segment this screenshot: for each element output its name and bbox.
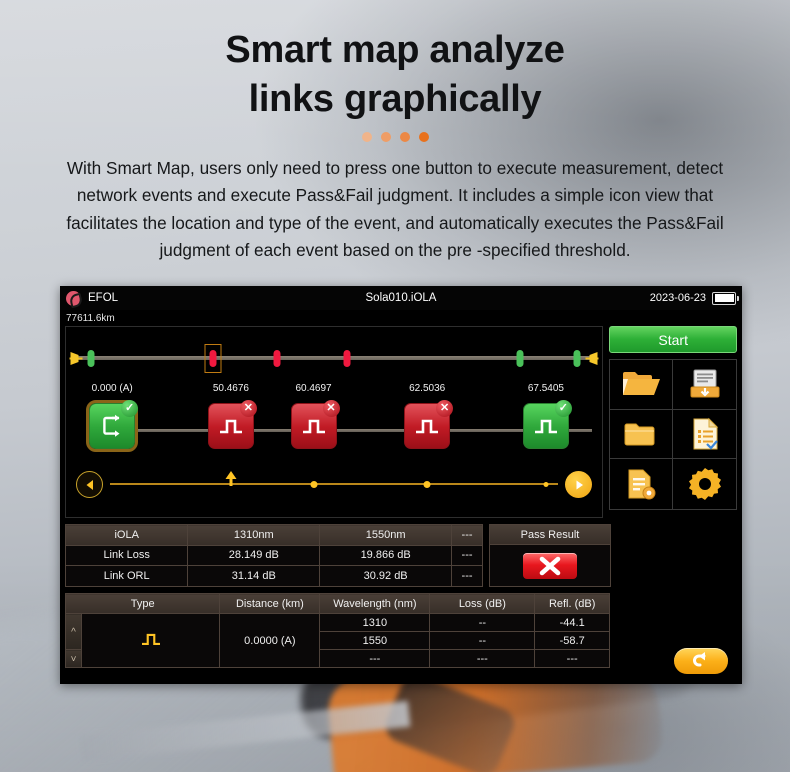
column-distance: Distance (km) [220,594,320,614]
carousel-dots[interactable] [0,132,790,142]
reflective-event-icon[interactable]: ✕ [291,403,337,449]
date-label: 2023-06-23 [650,292,706,304]
event-distance-label: 62.5036 [409,383,445,394]
report-document-icon[interactable] [673,410,736,460]
file-settings-icon[interactable] [610,459,673,509]
nav-event-dot[interactable] [543,482,548,487]
table-row: iOLA 1310nm 1550nm --- [66,525,483,546]
fiber-launch-icon [69,349,84,368]
event-icon-row[interactable]: ✓ ✕ ✕ ✕ ✓ [76,403,592,455]
loss-cell: --- [430,650,535,668]
summary-cell: 28.149 dB [188,545,320,566]
trace-marker[interactable] [209,350,216,367]
events-table-wrap: Type Distance (km) Wavelength (nm) Loss … [60,587,742,668]
prev-arrow-icon[interactable] [76,471,103,498]
event-type-cell [82,614,220,668]
fail-badge-icon: ✕ [436,400,453,417]
event-distance-cell: 0.0000 (A) [220,614,320,668]
loss-cell: -- [430,614,535,632]
event-connector-line [102,429,592,432]
summary-cell: iOLA [66,525,188,546]
pass-result-title: Pass Result [490,525,610,545]
summary-cell: 30.92 dB [320,566,452,587]
pass-result-body [490,545,610,586]
nav-track-line [110,483,558,485]
device-header: EFOL Sola010.iOLA 2023-06-23 [60,286,742,310]
fiber-trace-bar[interactable] [76,343,592,373]
cursor-marker-icon[interactable] [224,471,237,487]
event-distance-label: 50.4676 [213,383,249,394]
total-distance-bar: 77611.6km [60,310,742,326]
page-title: Smart map analyze links graphically [0,0,790,123]
summary-cell: --- [452,545,483,566]
summary-cell: Link ORL [66,566,188,587]
gear-icon[interactable] [673,459,736,509]
summary-cell: --- [452,566,483,587]
page-title-line1: Smart map analyze [225,29,564,71]
column-refl: Refl. (dB) [535,594,610,614]
back-arrow-icon[interactable] [674,648,728,674]
fiber-line [76,356,592,360]
fail-cross-icon [523,553,577,579]
start-button[interactable]: Start [609,326,737,353]
reflective-event-icon[interactable]: ✓ [523,403,569,449]
trace-marker[interactable] [274,350,281,367]
fail-badge-icon: ✕ [240,400,257,417]
device-screen: EFOL Sola010.iOLA 2023-06-23 77611.6km [60,286,742,684]
scroll-up-button[interactable]: ^ [66,614,82,650]
nav-event-dot[interactable] [424,481,431,488]
table-row: Link Loss 28.149 dB 19.866 dB --- [66,545,483,566]
pass-result-panel: Pass Result [489,524,611,587]
refl-cell: -44.1 [535,614,610,632]
fail-badge-icon: ✕ [323,400,340,417]
loopback-event-icon[interactable]: ✓ [89,403,135,449]
summary-cell: 31.14 dB [188,566,320,587]
open-folder-icon[interactable] [610,360,673,410]
reflective-event-icon [140,639,162,651]
carousel-dot-4[interactable] [419,132,429,142]
table-header-row: Type Distance (km) Wavelength (nm) Loss … [66,594,610,614]
brand-label: EFOL [88,292,118,304]
chevron-up-icon: ^ [71,627,76,638]
table-row[interactable]: ^ 0.0000 (A) 1310 -- -44.1 [66,614,610,632]
carousel-dot-1[interactable] [362,132,372,142]
trace-marker[interactable] [573,350,580,367]
refl-cell: -58.7 [535,632,610,650]
hero-section: Smart map analyze links graphically With… [0,0,790,264]
chevron-down-icon: ˅ [71,654,77,665]
tool-icon-grid [609,359,737,510]
event-distance-label: 0.000 (A) [92,383,133,394]
column-wavelength: Wavelength (nm) [320,594,430,614]
control-side-panel: Start [609,326,737,518]
total-distance-value: 77611.6km [66,313,115,324]
carousel-dot-3[interactable] [400,132,410,142]
loss-cell: -- [430,632,535,650]
fiber-end-icon [585,349,600,368]
summary-cell: 19.866 dB [320,545,452,566]
pass-badge-icon: ✓ [555,400,572,417]
scroll-down-button[interactable]: ˅ [66,650,82,668]
column-type: Type [66,594,220,614]
trace-marker[interactable] [517,350,524,367]
event-distance-label: 67.5405 [528,383,564,394]
efol-logo-icon [66,291,81,306]
pass-badge-icon: ✓ [121,400,138,417]
event-distance-label: 60.4697 [295,383,331,394]
header-right-group: 2023-06-23 [650,292,736,305]
page-title-line2: links graphically [249,78,542,120]
reflective-event-icon[interactable]: ✕ [208,403,254,449]
event-navigation-strip[interactable] [76,467,592,501]
hero-description: With Smart Map, users only need to press… [45,155,745,264]
next-arrow-icon[interactable] [565,471,592,498]
trace-marker[interactable] [88,350,95,367]
summary-cell: 1310nm [188,525,320,546]
wavelength-cell: 1310 [320,614,430,632]
column-loss: Loss (dB) [430,594,535,614]
wavelength-cell: 1550 [320,632,430,650]
event-distance-labels: 0.000 (A) 50.4676 60.4697 62.5036 67.540… [76,383,592,397]
carousel-dot-2[interactable] [381,132,391,142]
trace-marker[interactable] [344,350,351,367]
summary-cell: --- [452,525,483,546]
reflective-event-icon[interactable]: ✕ [404,403,450,449]
folder-icon[interactable] [610,410,673,460]
summary-cell: 1550nm [320,525,452,546]
nav-event-dot[interactable] [310,481,317,488]
battery-icon [712,292,736,305]
device-title: Sola010.iOLA [60,292,742,304]
save-file-icon[interactable] [673,360,736,410]
summary-table: iOLA 1310nm 1550nm --- Link Loss 28.149 … [65,524,483,587]
refl-cell: --- [535,650,610,668]
smart-map-panel[interactable]: 0.000 (A) 50.4676 60.4697 62.5036 67.540… [65,326,603,518]
wavelength-cell: --- [320,650,430,668]
summary-row: iOLA 1310nm 1550nm --- Link Loss 28.149 … [60,518,742,587]
summary-cell: Link Loss [66,545,188,566]
events-table: Type Distance (km) Wavelength (nm) Loss … [65,593,610,668]
table-row: Link ORL 31.14 dB 30.92 dB --- [66,566,483,587]
device-body: 0.000 (A) 50.4676 60.4697 62.5036 67.540… [60,326,742,518]
